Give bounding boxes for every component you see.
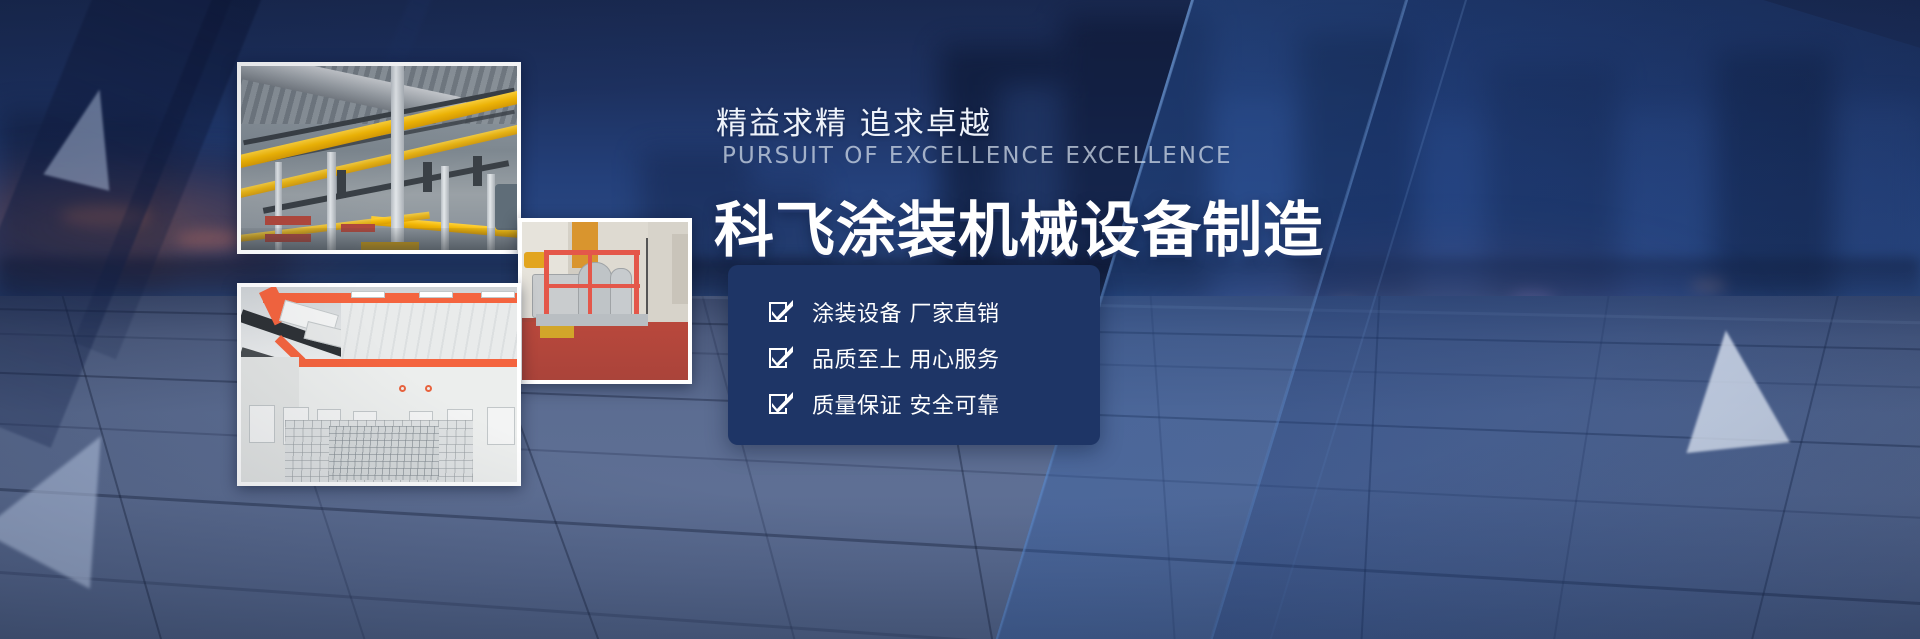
feature-panel: 涂装设备 厂家直销 品质至上 用心服务 质量保证 安全可靠 [728,265,1100,445]
city-light-6 [175,230,245,248]
feature-item: 涂装设备 厂家直销 [768,289,1100,335]
checkbox-checked-icon [768,345,794,371]
feature-item: 品质至上 用心服务 [768,335,1100,381]
feature-label: 质量保证 安全可靠 [812,388,1000,420]
page-title: 科飞涂装机械设备制造 [714,182,1324,269]
slogan-english: PURSUIT OF EXCELLENCE EXCELLENCE [722,143,1233,169]
feature-label: 涂装设备 厂家直销 [812,296,1000,328]
spray-booth-interior-photo [237,283,521,486]
overhead-conveyor-line-photo [237,62,521,254]
checkbox-checked-icon [768,299,794,325]
checkbox-checked-icon [768,391,794,417]
slogan-chinese: 精益求精 追求卓越 [716,98,992,143]
feature-label: 品质至上 用心服务 [812,342,1000,374]
feature-item: 质量保证 安全可靠 [768,381,1100,427]
decor-triangle-right [1674,325,1790,453]
coating-equipment-room-photo [518,218,692,384]
hero-banner: 精益求精 追求卓越 PURSUIT OF EXCELLENCE EXCELLEN… [0,0,1920,639]
